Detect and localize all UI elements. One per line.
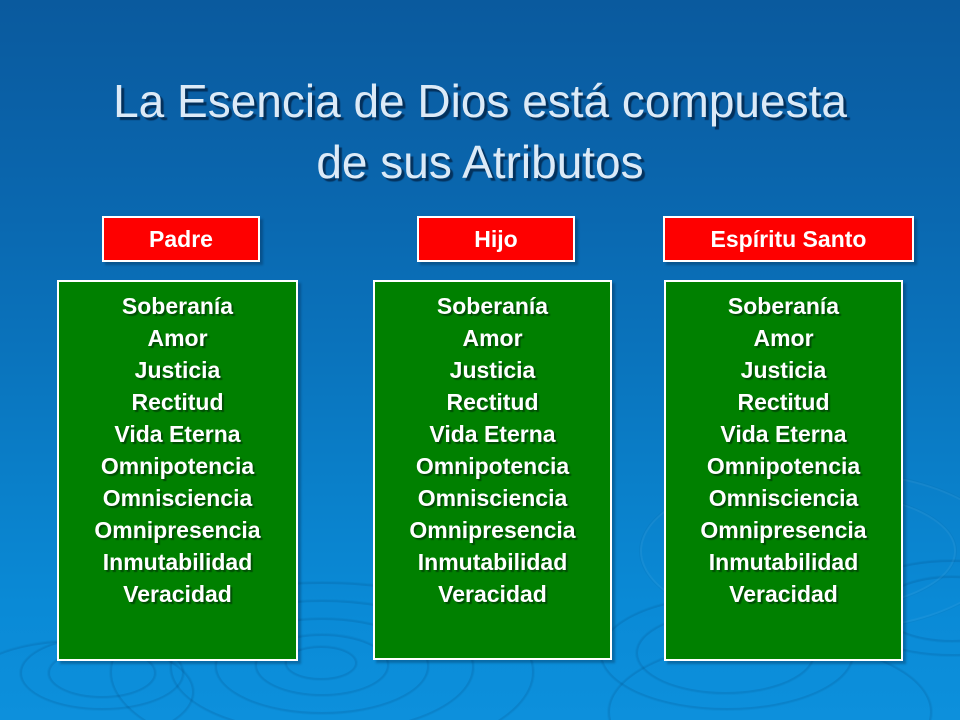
list-item: Omnisciencia xyxy=(666,482,901,514)
header-box-espiritu-santo[interactable]: Espíritu Santo xyxy=(663,216,914,262)
header-box-hijo[interactable]: Hijo xyxy=(417,216,575,262)
list-item: Amor xyxy=(59,322,296,354)
list-item: Inmutabilidad xyxy=(375,546,610,578)
slide-title-line-1: La Esencia de Dios está compuesta xyxy=(113,75,847,127)
slide-title: La Esencia de Dios está compuesta de sus… xyxy=(0,71,960,192)
attributes-box-espiritu-santo: Soberanía Amor Justicia Rectitud Vida Et… xyxy=(664,280,903,661)
list-item: Veracidad xyxy=(666,578,901,610)
list-item: Rectitud xyxy=(666,386,901,418)
list-item: Omnipresencia xyxy=(375,514,610,546)
attributes-box-padre: Soberanía Amor Justicia Rectitud Vida Et… xyxy=(57,280,298,661)
header-label-padre: Padre xyxy=(149,226,213,253)
slide-title-line-2: de sus Atributos xyxy=(316,136,643,188)
list-item: Inmutabilidad xyxy=(666,546,901,578)
list-item: Omnipotencia xyxy=(59,450,296,482)
list-item: Veracidad xyxy=(375,578,610,610)
header-label-espiritu-santo: Espíritu Santo xyxy=(711,226,867,253)
list-item: Vida Eterna xyxy=(666,418,901,450)
list-item: Amor xyxy=(666,322,901,354)
list-item: Justicia xyxy=(375,354,610,386)
attributes-box-hijo: Soberanía Amor Justicia Rectitud Vida Et… xyxy=(373,280,612,660)
list-item: Soberanía xyxy=(375,290,610,322)
attribute-list-padre: Soberanía Amor Justicia Rectitud Vida Et… xyxy=(59,290,296,610)
list-item: Justicia xyxy=(666,354,901,386)
list-item: Vida Eterna xyxy=(375,418,610,450)
list-item: Omnipresencia xyxy=(666,514,901,546)
list-item: Vida Eterna xyxy=(59,418,296,450)
header-box-padre[interactable]: Padre xyxy=(102,216,260,262)
list-item: Amor xyxy=(375,322,610,354)
list-item: Omnisciencia xyxy=(59,482,296,514)
list-item: Omnipotencia xyxy=(666,450,901,482)
list-item: Rectitud xyxy=(59,386,296,418)
list-item: Soberanía xyxy=(59,290,296,322)
list-item: Soberanía xyxy=(666,290,901,322)
list-item: Justicia xyxy=(59,354,296,386)
slide-canvas: La Esencia de Dios está compuesta de sus… xyxy=(0,0,960,720)
list-item: Omnipresencia xyxy=(59,514,296,546)
list-item: Inmutabilidad xyxy=(59,546,296,578)
list-item: Omnisciencia xyxy=(375,482,610,514)
list-item: Rectitud xyxy=(375,386,610,418)
attribute-list-espiritu-santo: Soberanía Amor Justicia Rectitud Vida Et… xyxy=(666,290,901,610)
list-item: Veracidad xyxy=(59,578,296,610)
header-label-hijo: Hijo xyxy=(474,226,517,253)
attribute-list-hijo: Soberanía Amor Justicia Rectitud Vida Et… xyxy=(375,290,610,610)
list-item: Omnipotencia xyxy=(375,450,610,482)
